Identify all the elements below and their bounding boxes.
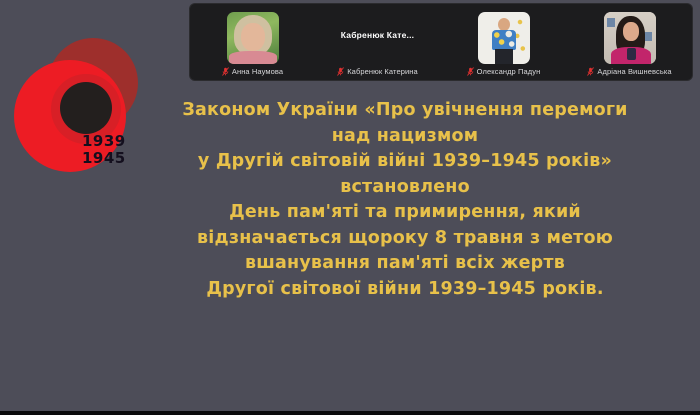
slide-line: Законом України «Про увічнення перемоги: [150, 98, 660, 124]
slide-line: встановлено: [150, 175, 660, 201]
participant-tile-active-speaker[interactable]: Кабренюк Кате... Кабренюк Катерина: [315, 4, 440, 80]
participant-nameplate: Адріана Вишневська: [567, 67, 692, 76]
slide-line: Другої світової війни 1939–1945 років.: [150, 277, 660, 303]
mic-muted-icon: [467, 67, 474, 76]
screen-bottom-edge: [0, 411, 700, 415]
slide-line: у Другій світовій війні 1939–1945 років»: [150, 149, 660, 175]
slide-line: День пам'яті та примирення, який: [150, 200, 660, 226]
participant-name: Анна Наумова: [232, 67, 283, 76]
mic-muted-icon: [587, 67, 594, 76]
video-call-screen: 1939 1945 Законом України «Про увічнення…: [0, 0, 700, 415]
active-speaker-name: Кабренюк Кате...: [315, 30, 440, 40]
emblem-date-from: 1939: [82, 133, 126, 150]
slide-body-text: Законом України «Про увічнення перемоги …: [150, 98, 660, 302]
participant-tile[interactable]: Адріана Вишневська: [567, 4, 692, 80]
participant-nameplate: Кабренюк Катерина: [315, 67, 440, 76]
participant-nameplate: Олександр Падун: [441, 67, 566, 76]
participant-nameplate: Анна Наумова: [190, 67, 315, 76]
participant-filmstrip: Анна Наумова Кабренюк Кате... Кабренюк К…: [190, 4, 692, 80]
avatar: [478, 12, 530, 64]
mic-muted-icon: [222, 67, 229, 76]
participant-tile[interactable]: Анна Наумова: [190, 4, 315, 80]
participant-tile[interactable]: Олександр Падун: [441, 4, 566, 80]
emblem-date-to: 1945: [82, 150, 126, 167]
avatar: [604, 12, 656, 64]
slide-line: вшанування пам'яті всіх жертв: [150, 251, 660, 277]
avatar: [227, 12, 279, 64]
participant-name: Олександр Падун: [477, 67, 541, 76]
participant-name: Кабренюк Катерина: [347, 67, 418, 76]
mic-muted-icon: [337, 67, 344, 76]
slide-line: над нацизмом: [150, 124, 660, 150]
remembrance-poppy-icon: 1939 1945: [8, 36, 148, 186]
poppy-center: [60, 82, 112, 134]
slide-line: відзначається щороку 8 травня з метою: [150, 226, 660, 252]
emblem-dates: 1939 1945: [82, 133, 126, 167]
participant-name: Адріана Вишневська: [597, 67, 671, 76]
